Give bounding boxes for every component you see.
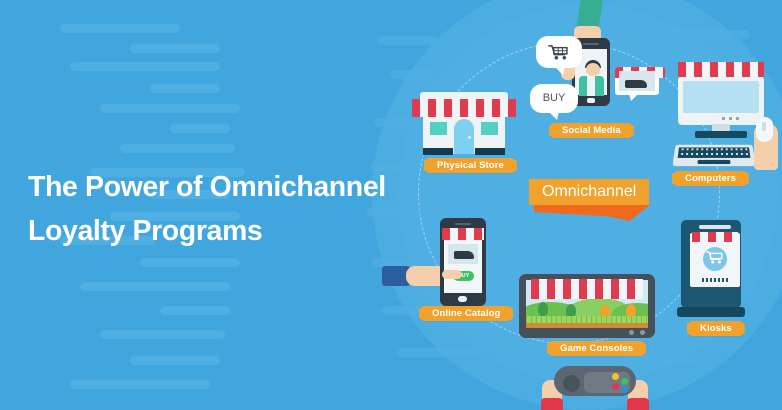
phone-home-button [458, 296, 467, 302]
kiosk-cabinet [681, 220, 741, 308]
keyboard-keys [678, 147, 751, 157]
channel-label-social-media: Social Media [553, 123, 630, 138]
dpad-icon[interactable] [563, 375, 580, 392]
shoe-icon [625, 80, 647, 88]
monitor-screen [683, 81, 759, 113]
kiosk-awning-icon [692, 232, 738, 242]
shopping-cart-icon [548, 45, 570, 60]
online-catalog-illustration: BUY [428, 218, 492, 310]
phone-home-button [587, 98, 595, 103]
infographic-banner: The Power of Omnichannel Loyalty Program… [0, 0, 782, 410]
catalog-awning-icon [442, 228, 484, 240]
gamepad-button-green[interactable] [621, 378, 628, 385]
gamepad-button-red[interactable] [612, 383, 619, 390]
page-title: The Power of Omnichannel Loyalty Program… [28, 165, 428, 253]
shopping-cart-icon [706, 251, 724, 264]
physical-store-illustration [412, 82, 516, 154]
game-tree [538, 302, 548, 316]
computer-mouse [756, 117, 773, 142]
tv-button[interactable] [629, 330, 634, 335]
keyboard [672, 145, 755, 166]
game-grass-texture [526, 316, 648, 323]
game-consoles-illustration [519, 274, 655, 338]
kiosk-base [677, 307, 745, 317]
store-window-left [430, 122, 447, 135]
kiosk-button-row [702, 278, 728, 282]
speech-bubble-cart [536, 36, 582, 68]
gamepad-illustration [542, 364, 648, 410]
store-card [615, 67, 659, 95]
sleeve-left [541, 398, 563, 410]
store-card-bubble [611, 52, 661, 96]
buy-bubble-text: BUY [530, 92, 578, 104]
person-shirt [587, 76, 595, 96]
gamepad-button-blue[interactable] [621, 386, 628, 393]
store-awning-icon [412, 99, 516, 117]
product-image [448, 244, 478, 264]
monitor-stand [695, 131, 747, 138]
kiosk-top-slot [699, 225, 731, 229]
store-door-knob [468, 136, 471, 139]
speech-bubble-buy: BUY [530, 84, 578, 113]
computers-illustration [668, 62, 776, 168]
channel-label-computers: Computers [676, 171, 745, 186]
index-finger [442, 270, 462, 279]
omnichannel-banner-label: Omnichannel [529, 179, 649, 205]
keyboard-spacebar [697, 160, 730, 164]
store-base-left [423, 148, 453, 155]
channel-label-kiosks: Kiosks [691, 321, 741, 336]
tv-button[interactable] [640, 330, 645, 335]
channel-label-game-consoles: Game Consoles [551, 341, 642, 356]
monitor-indicator-dots [722, 117, 740, 120]
store-door [454, 119, 474, 154]
channel-label-physical-store: Physical Store [428, 158, 513, 173]
kiosks-illustration [677, 220, 747, 320]
omnichannel-banner: Omnichannel [529, 179, 649, 205]
store-window-right [481, 122, 498, 135]
headline-line-2: Loyalty Programs [28, 209, 428, 253]
gamepad-button-yellow[interactable] [612, 373, 619, 380]
monitor-awning-icon [678, 62, 764, 77]
store-card-image [619, 71, 655, 91]
sleeve-right [627, 398, 649, 410]
monitor [678, 76, 764, 125]
shoe-icon [454, 251, 474, 259]
gamepad-body[interactable] [554, 366, 636, 396]
headline-line-1: The Power of Omnichannel [28, 165, 428, 209]
social-media-illustration: BUY [518, 0, 643, 120]
person-head [586, 63, 600, 76]
tv-awning-icon [531, 279, 643, 299]
mouse-button [762, 122, 766, 131]
game-dirt [526, 323, 648, 328]
channel-label-online-catalog: Online Catalog [423, 306, 509, 321]
phone-speaker [583, 43, 599, 45]
store-base-right [475, 148, 505, 155]
phone-speaker [455, 223, 471, 225]
